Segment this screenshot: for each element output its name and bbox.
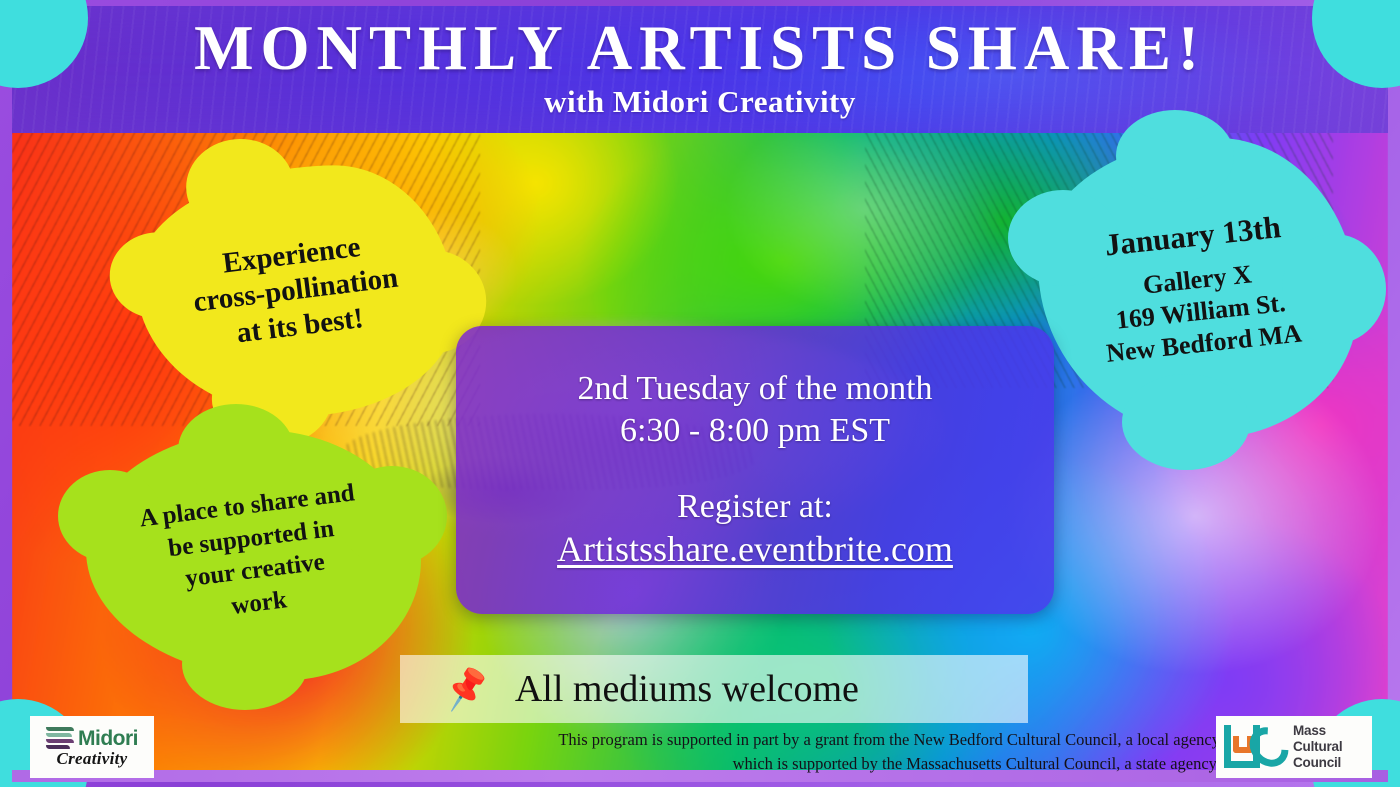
blob-bump bbox=[1116, 110, 1234, 202]
all-mediums-banner: 📌 All mediums welcome bbox=[400, 655, 1028, 723]
blob-bump bbox=[178, 404, 294, 496]
register-label: Register at: bbox=[677, 486, 833, 527]
midori-tagline: Creativity bbox=[57, 750, 128, 767]
flyer-canvas: MONTHLY ARTISTS SHARE! with Midori Creat… bbox=[0, 0, 1400, 787]
schedule-recurrence: 2nd Tuesday of the month bbox=[577, 368, 932, 410]
mass-cultural-council-logo: Mass Cultural Council bbox=[1216, 716, 1372, 778]
blob-bump bbox=[182, 618, 308, 710]
grant-disclaimer-line: which is supported by the Massachusetts … bbox=[330, 752, 1220, 776]
midori-creativity-logo: Midori Creativity bbox=[30, 716, 154, 778]
schedule-time: 6:30 - 8:00 pm EST bbox=[577, 410, 932, 452]
page-title: MONTHLY ARTISTS SHARE! bbox=[194, 16, 1206, 80]
mcc-wordmark-line: Cultural bbox=[1293, 739, 1342, 755]
schedule-block: 2nd Tuesday of the month 6:30 - 8:00 pm … bbox=[577, 368, 932, 452]
page-subtitle: with Midori Creativity bbox=[544, 84, 856, 120]
event-details-text: January 13th Gallery X 169 William St. N… bbox=[1079, 205, 1317, 370]
midori-wordmark: Midori bbox=[78, 728, 138, 749]
midori-layers-icon bbox=[46, 727, 74, 749]
midori-logo-row: Midori bbox=[46, 727, 138, 749]
mcc-wordmark-line: Mass bbox=[1293, 723, 1342, 739]
schedule-registration-panel: 2nd Tuesday of the month 6:30 - 8:00 pm … bbox=[456, 326, 1054, 614]
all-mediums-text: All mediums welcome bbox=[515, 667, 859, 711]
blob-bump bbox=[185, 138, 295, 236]
grant-disclaimer-line: This program is supported in part by a g… bbox=[330, 728, 1220, 752]
mcc-wordmark-line: Council bbox=[1293, 755, 1342, 771]
mcc-wordmark: Mass Cultural Council bbox=[1293, 723, 1342, 771]
event-date: January 13th bbox=[1093, 207, 1292, 265]
pushpin-icon: 📌 bbox=[441, 667, 492, 712]
registration-link[interactable]: Artistsshare.eventbrite.com bbox=[557, 528, 953, 572]
blob-bump bbox=[1122, 374, 1250, 470]
callout-experience-text: Experience cross-pollination at its best… bbox=[178, 225, 415, 358]
grant-disclaimer: This program is supported in part by a g… bbox=[330, 728, 1220, 776]
mcc-monogram-icon bbox=[1224, 724, 1286, 770]
